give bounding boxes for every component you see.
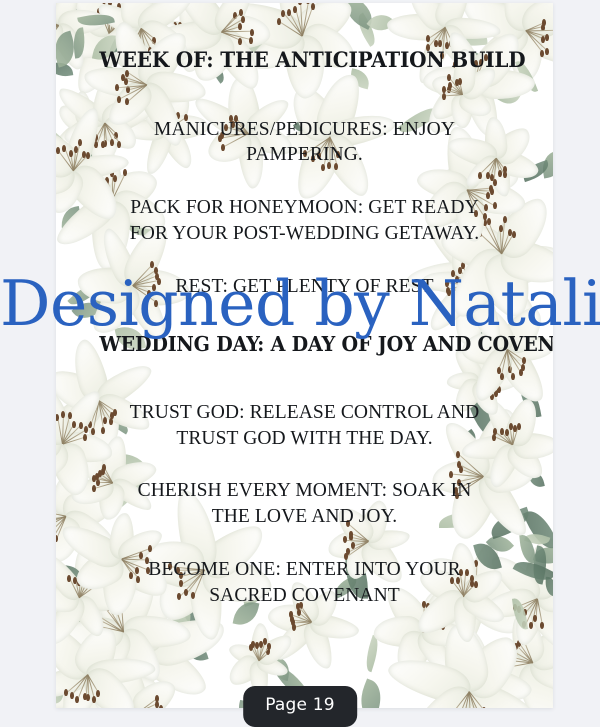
document-page-viewer[interactable]: WEEK OF: THE ANTICIPATION BUILD MANICURE… [0, 0, 600, 723]
paragraph-trust-god: TRUST GOD: RELEASE CONTROL AND TRUST GOD… [84, 400, 525, 451]
paragraph-cherish-every-moment: CHERISH EVERY MOMENT: SOAK IN THE LOVE A… [84, 478, 525, 529]
spacer [84, 168, 525, 195]
spacer [84, 73, 525, 117]
heading-week-of: WEEK OF: THE ANTICIPATION BUILD [99, 49, 509, 73]
spacer [84, 356, 525, 400]
heading-wedding-day: WEDDING DAY: A DAY OF JOY AND COVENAN [99, 333, 509, 356]
page-number-badge[interactable]: Page 19 [243, 686, 357, 727]
paragraph-pack-honeymoon: PACK FOR HONEYMOON: GET READY FOR YOUR P… [84, 195, 525, 246]
page-content: WEEK OF: THE ANTICIPATION BUILD MANICURE… [56, 3, 553, 708]
spacer [84, 247, 525, 274]
spacer [84, 451, 525, 478]
paragraph-become-one: BECOME ONE: ENTER INTO YOUR SACRED COVEN… [84, 557, 525, 608]
document-page[interactable]: WEEK OF: THE ANTICIPATION BUILD MANICURE… [56, 3, 553, 708]
paragraph-rest: REST: GET PLENTY OF REST [84, 274, 525, 300]
spacer [84, 530, 525, 557]
paragraph-manicures: MANICURES/PEDICURES: ENJOY PAMPERING. [84, 117, 525, 168]
spacer [84, 299, 525, 333]
